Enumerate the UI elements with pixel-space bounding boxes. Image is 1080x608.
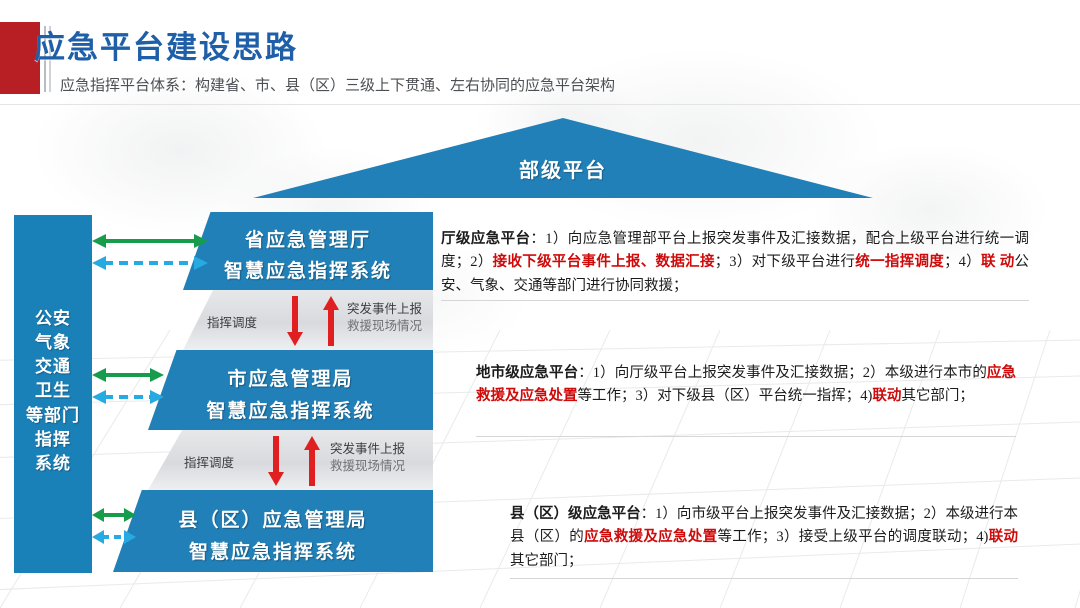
header-rule	[0, 104, 1080, 105]
sidebar-line-4: 等部门	[14, 404, 92, 428]
connector-band-province-city: 指挥调度 突发事件上报 救援现场情况	[183, 290, 433, 350]
pyramid-tier-city[interactable]: 市应急管理局 智慧应急指挥系统	[148, 350, 433, 430]
cyan-dashed-double-arrow-icon	[92, 390, 164, 404]
band2-report-line1: 突发事件上报	[330, 441, 405, 458]
sidebar-line-1: 气象	[14, 331, 92, 355]
description-rule-city	[476, 436, 1016, 437]
link-arrows-sidebar-province	[92, 232, 208, 278]
sidebar-label-stack: 公安 气象 交通 卫生 等部门 指挥 系统	[14, 307, 92, 476]
pyramid-top-ministry[interactable]: 部级平台	[253, 118, 873, 198]
desc-province-red2: 统一指挥调度	[855, 254, 944, 270]
tier-county-line1: 县（区）应急管理局	[113, 505, 433, 532]
desc-city-red2: 联动	[872, 388, 901, 404]
desc-county-seg3: 其它部门；	[510, 553, 583, 569]
red-up-arrow-icon	[304, 436, 320, 486]
desc-province-heading: 厅级应急平台	[441, 231, 530, 247]
desc-county-red2: 联动	[988, 529, 1018, 545]
desc-county-seg2: 等工作；3）接受上级平台的调度联动；4)	[717, 529, 988, 545]
description-city: 地市级应急平台：1）向厅级平台上报突发事件及汇接数据；2）本级进行本市的应急救援…	[476, 362, 1016, 409]
desc-province-seg3: ；4）	[944, 254, 981, 270]
tier-province-line1: 省应急管理厅	[183, 225, 433, 252]
pyramid-top-label: 部级平台	[253, 154, 873, 183]
band1-command-label: 指挥调度	[207, 312, 257, 331]
tier-county-line2: 智慧应急指挥系统	[113, 537, 433, 564]
band2-report-line2: 救援现场情况	[330, 458, 405, 475]
band2-command-label: 指挥调度	[184, 452, 234, 471]
page-title: 应急平台建设思路	[34, 22, 298, 67]
green-double-arrow-icon	[92, 368, 164, 382]
pyramid-tier-province[interactable]: 省应急管理厅 智慧应急指挥系统	[183, 212, 433, 290]
desc-city-seg2: 等工作；3）对下级县（区）平台统一指挥；4)	[578, 388, 873, 404]
green-double-arrow-icon	[92, 234, 208, 248]
description-rule-county	[510, 578, 1018, 579]
band1-report-line1: 突发事件上报	[347, 301, 422, 318]
green-double-arrow-icon	[92, 508, 136, 522]
tier-province-line2: 智慧应急指挥系统	[183, 256, 433, 283]
desc-province-colon: ：	[530, 231, 545, 247]
desc-county-heading: 县（区）级应急平台	[510, 506, 641, 522]
description-rule-province	[441, 300, 1029, 301]
red-up-arrow-icon	[323, 296, 339, 346]
sidebar-line-2: 交通	[14, 355, 92, 379]
cyan-dashed-double-arrow-icon	[92, 530, 136, 544]
sidebar-line-3: 卫生	[14, 379, 92, 403]
slide-canvas: 应急平台建设思路 应急指挥平台体系：构建省、市、县（区）三级上下贯通、左右协同的…	[0, 0, 1080, 608]
desc-county-colon: ：	[641, 506, 656, 522]
connector-band-city-county: 指挥调度 突发事件上报 救援现场情况	[148, 430, 433, 490]
band1-report-labels: 突发事件上报 救援现场情况	[347, 301, 422, 335]
desc-province-red1: 接收下级平台事件上报、数据汇接	[493, 254, 715, 270]
red-down-arrow-icon	[287, 296, 303, 346]
red-down-arrow-icon	[268, 436, 284, 486]
tier-city-line1: 市应急管理局	[148, 364, 433, 391]
sidebar-line-5: 指挥	[14, 428, 92, 452]
desc-city-heading: 地市级应急平台	[476, 365, 578, 381]
departments-sidebar[interactable]: 公安 气象 交通 卫生 等部门 指挥 系统	[14, 215, 92, 573]
sidebar-line-6: 系统	[14, 452, 92, 476]
band1-report-line2: 救援现场情况	[347, 318, 422, 335]
page-subtitle: 应急指挥平台体系：构建省、市、县（区）三级上下贯通、左右协同的应急平台架构	[60, 74, 615, 95]
description-county: 县（区）级应急平台：1）向市级平台上报突发事件及汇接数据；2）本级进行本县（区）…	[510, 503, 1018, 573]
link-arrows-sidebar-county	[92, 506, 136, 552]
description-province: 厅级应急平台：1）向应急管理部平台上报突发事件及汇接数据，配合上级平台进行统一调…	[441, 228, 1029, 298]
desc-county-red1: 应急救援及应急处置	[584, 529, 717, 545]
cyan-dashed-double-arrow-icon	[92, 256, 208, 270]
desc-city-seg1: 1）向厅级平台上报突发事件及汇接数据；2）本级进行本市的	[593, 365, 987, 381]
link-arrows-sidebar-city	[92, 366, 164, 412]
desc-city-colon: ：	[578, 365, 593, 381]
tier-city-line2: 智慧应急指挥系统	[148, 396, 433, 423]
desc-province-red3: 联 动	[981, 254, 1015, 270]
desc-province-seg2: ；3）对下级平台进行	[715, 254, 856, 270]
pyramid-tier-county[interactable]: 县（区）应急管理局 智慧应急指挥系统	[113, 490, 433, 572]
band2-report-labels: 突发事件上报 救援现场情况	[330, 441, 405, 475]
sidebar-line-0: 公安	[14, 307, 92, 331]
desc-city-seg3: 其它部门；	[901, 388, 974, 404]
